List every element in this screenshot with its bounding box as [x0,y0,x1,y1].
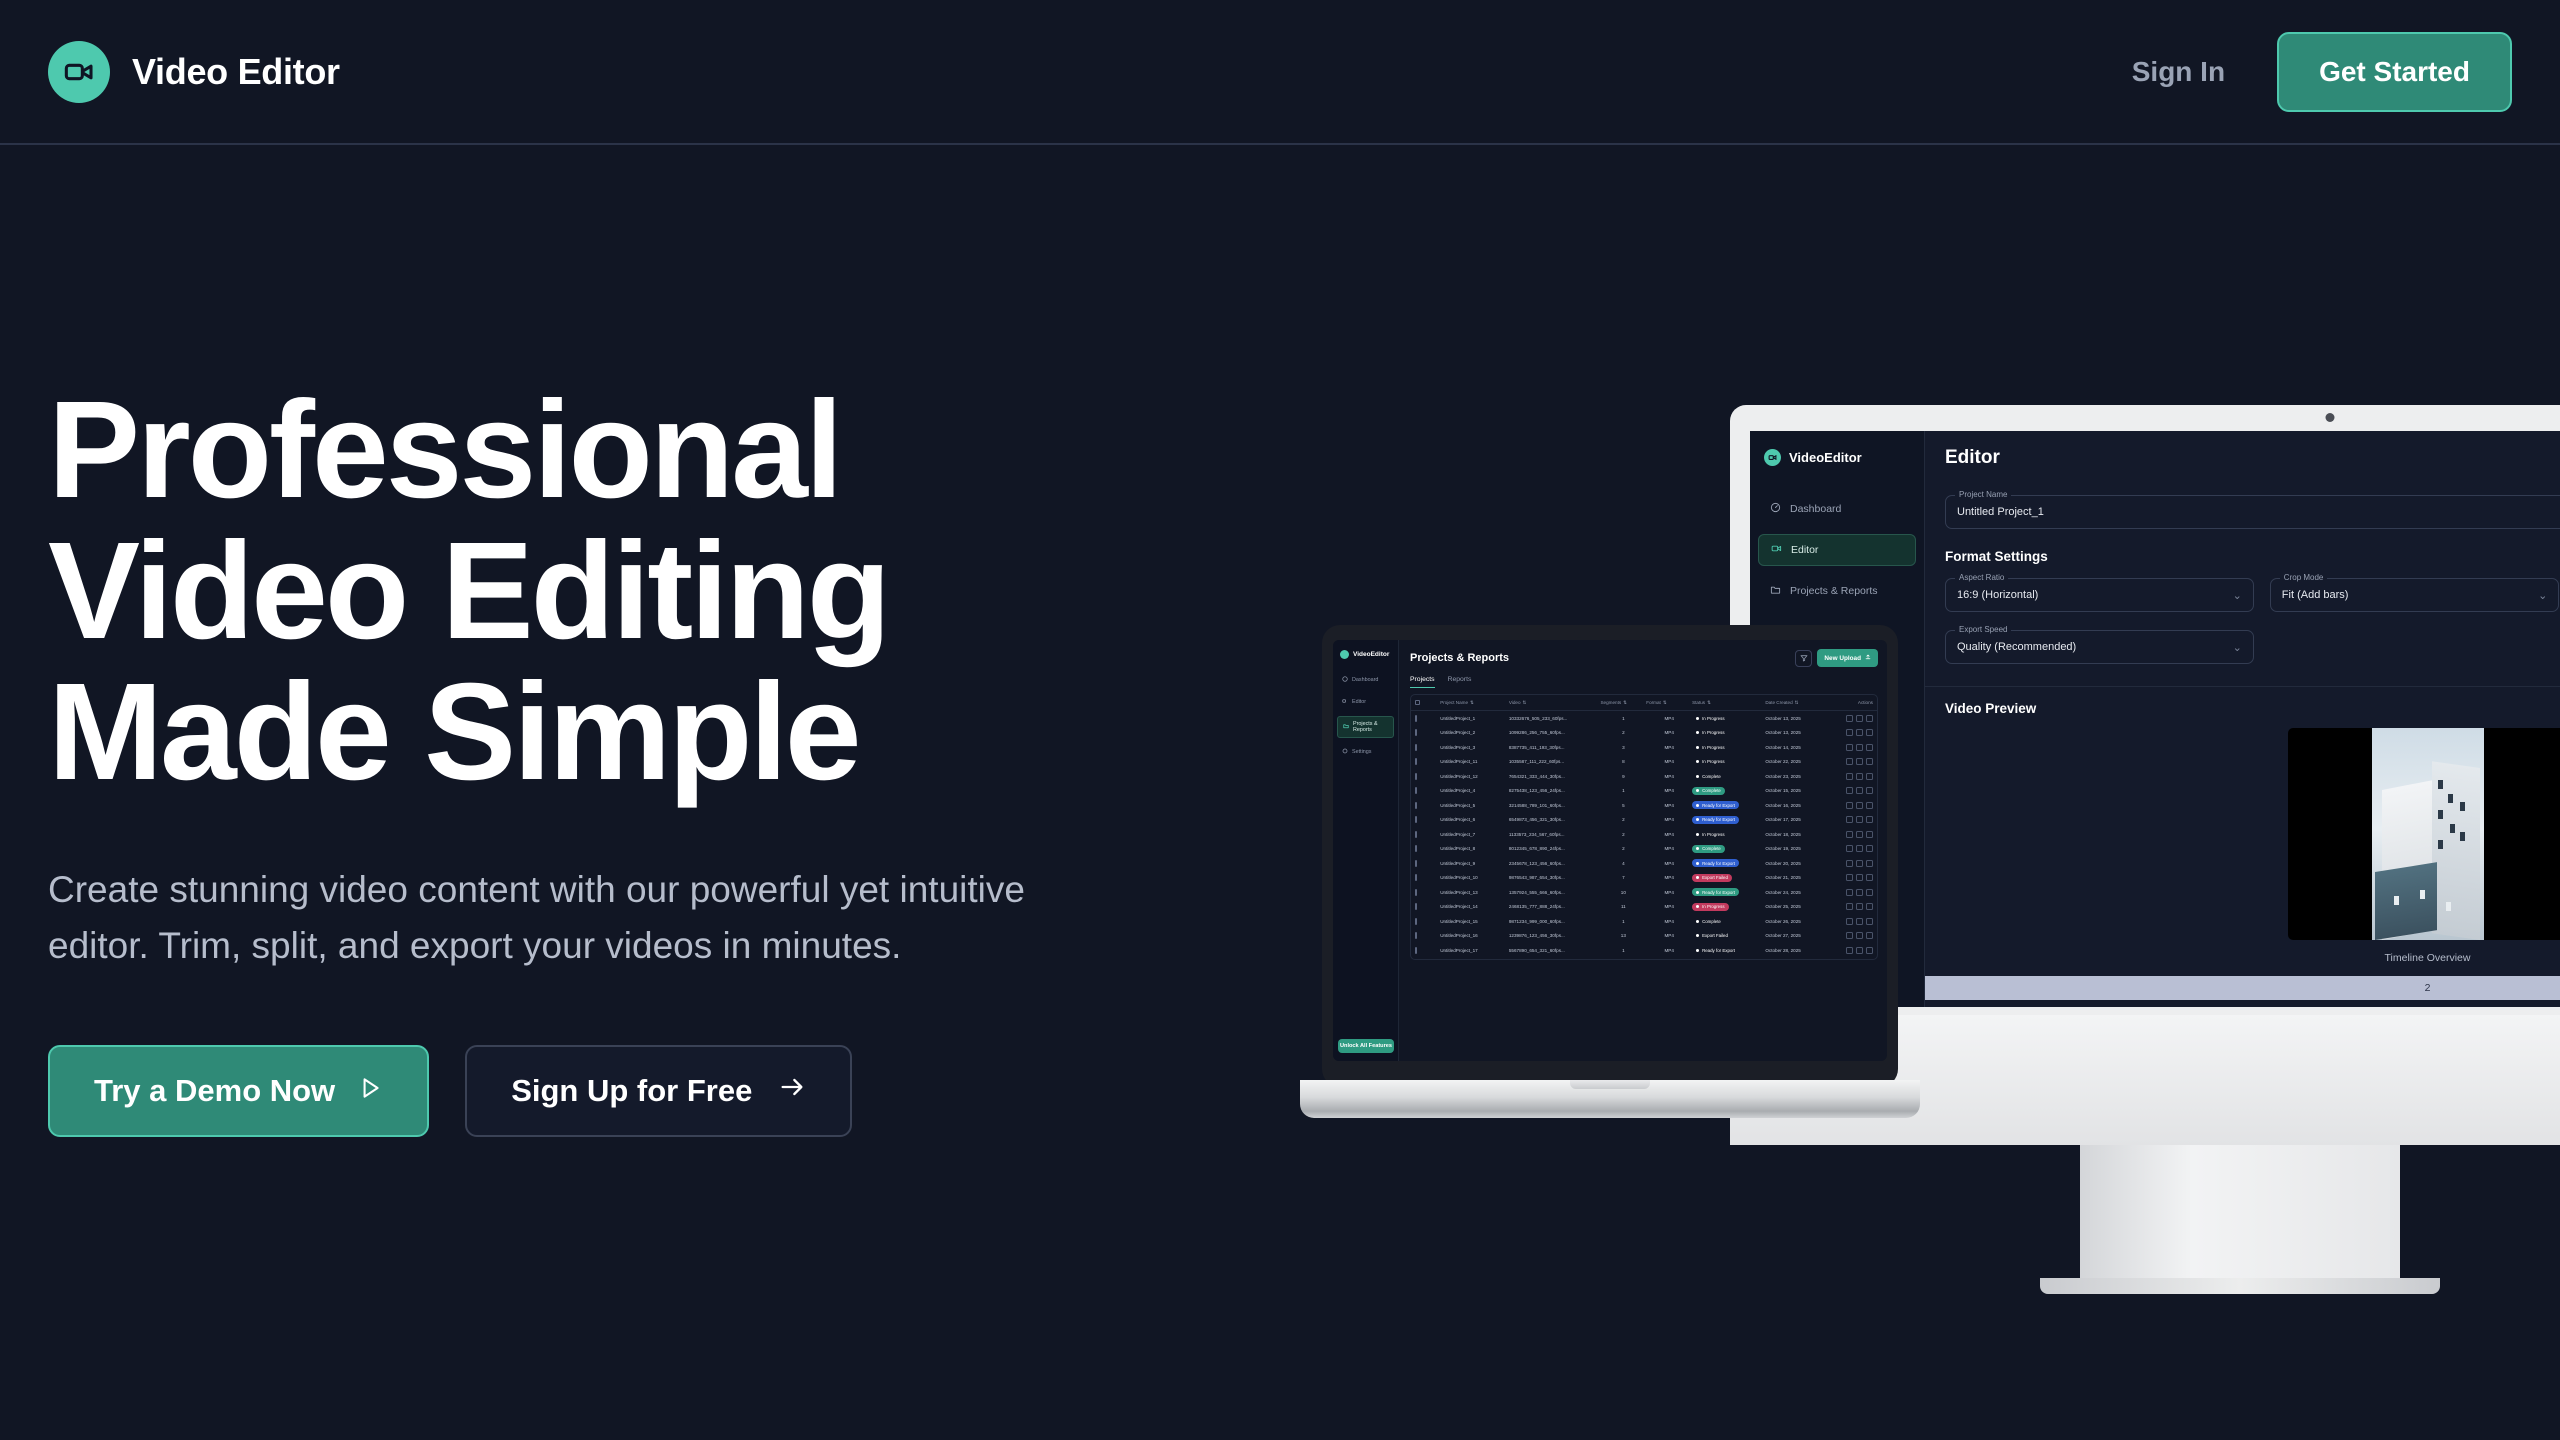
cell-video: 8275438_123_456_24fps... [1509,788,1601,793]
delete-icon[interactable] [1866,773,1873,780]
row-checkbox[interactable] [1415,788,1440,793]
table-row[interactable]: UntitledProject_111035587_111_222_60fps.… [1411,755,1877,770]
export-icon[interactable] [1856,715,1863,722]
row-checkbox[interactable] [1415,774,1440,779]
delete-icon[interactable] [1866,889,1873,896]
cell-video: 1239876_123_456_30fps... [1509,933,1601,938]
monitor-foot [2040,1278,2440,1294]
sort-icon: ⇅ [1663,700,1667,706]
try-demo-button[interactable]: Try a Demo Now [48,1045,429,1137]
project-name-value: Untitled Project_1 [1957,506,2044,518]
export-speed-legend: Export Speed [1955,625,2011,634]
video-camera-icon [48,41,110,103]
monitor-topbar: Editor Save Exp [1925,447,2560,479]
laptop-tabs: Projects Reports [1410,676,1878,688]
sidebar-item-editor[interactable]: Editor [1758,534,1916,566]
cell-segments: 3 [1600,745,1646,750]
edit-icon[interactable] [1846,947,1853,954]
export-icon[interactable] [1856,758,1863,765]
row-actions[interactable] [1832,918,1873,925]
table-row[interactable]: UntitledProject_159871234_999_000_60fps.… [1411,914,1877,929]
status-badge: Ready for Export [1692,816,1739,824]
status-badge: Complete [1692,787,1725,795]
table-row[interactable]: UntitledProject_21099286_256_755_60fps..… [1411,726,1877,741]
cell-format: MP4 [1646,948,1692,953]
cell-format: MP4 [1646,759,1692,764]
monitor-brand[interactable]: VideoEditor [1750,449,1924,466]
laptop-lid: VideoEditor Dashboard Editor [1322,625,1898,1087]
cell-segments: 1 [1600,716,1646,721]
cell-format: MP4 [1646,890,1692,895]
cell-video: 2468135_777_888_24fps... [1509,904,1601,909]
cell-status: Ready for Export [1692,801,1765,809]
row-checkbox[interactable] [1415,759,1440,764]
sidebar-label: Dashboard [1352,677,1378,683]
edit-icon[interactable] [1846,715,1853,722]
laptop-brand[interactable]: VideoEditor [1333,650,1398,659]
cell-format: MP4 [1646,774,1692,779]
cell-status: In Progress [1692,830,1765,838]
laptop-main: Projects & Reports New Upload [1399,640,1887,1061]
arrow-right-icon [778,1073,806,1109]
table-row[interactable]: UntitledProject_110332676_505_233_60fps.… [1411,711,1877,726]
cell-project-name: UntitledProject_5 [1440,803,1509,808]
export-icon[interactable] [1856,787,1863,794]
export-icon[interactable] [1856,773,1863,780]
status-badge: In Progress [1692,758,1728,766]
cell-segments: 5 [1600,803,1646,808]
export-icon[interactable] [1856,918,1863,925]
cell-status: Ready for Export [1692,859,1765,867]
cell-video: 5567890_654_321_60fps... [1509,948,1601,953]
cell-status: In Progress [1692,714,1765,722]
column-header-segments[interactable]: Segments⇅ [1600,700,1646,706]
cell-format: MP4 [1646,745,1692,750]
hero-section: Professional Video Editing Made Simple C… [48,380,1168,1137]
cell-date-created: October 15, 2025 [1765,788,1831,793]
export-icon[interactable] [1856,816,1863,823]
laptop-trackpad-notch [1570,1080,1650,1089]
table-row[interactable]: UntitledProject_142468135_777_888_24fps.… [1411,900,1877,915]
aspect-ratio-legend: Aspect Ratio [1955,573,2008,582]
cell-project-name: UntitledProject_15 [1440,919,1509,924]
timeline-bar[interactable]: 2 [1925,976,2560,1000]
cell-format: MP4 [1646,861,1692,866]
folder-icon [1770,584,1781,598]
cell-format: MP4 [1646,817,1692,822]
get-started-button[interactable]: Get Started [2277,32,2512,112]
table-body: UntitledProject_110332676_505_233_60fps.… [1411,711,1877,959]
cell-segments: 2 [1600,846,1646,851]
cell-format: MP4 [1646,803,1692,808]
row-actions[interactable] [1832,845,1873,852]
delete-icon[interactable] [1866,932,1873,939]
project-name-field[interactable]: Project Name Untitled Project_1 [1945,495,2560,529]
format-settings-heading: Format Settings [1945,549,2560,564]
row-checkbox[interactable] [1415,846,1440,851]
site-header: Video Editor Sign In Get Started [0,0,2560,145]
cell-format: MP4 [1646,788,1692,793]
delete-icon[interactable] [1866,874,1873,881]
select-all-checkbox[interactable] [1415,700,1440,705]
status-badge: Export Failed [1692,932,1732,940]
edit-icon[interactable] [1846,758,1853,765]
cell-date-created: October 28, 2025 [1765,948,1831,953]
sidebar-label: Settings [1352,749,1371,755]
cell-project-name: UntitledProject_13 [1440,890,1509,895]
page-title: Professional Video Editing Made Simple [48,380,1168,802]
gauge-icon [1342,676,1348,684]
edit-icon[interactable] [1846,744,1853,751]
row-actions[interactable] [1832,744,1873,751]
video-preview-area: Timeline Overview 2 [1925,728,2560,1000]
cell-date-created: October 17, 2025 [1765,817,1831,822]
table-row[interactable]: UntitledProject_53214588_789_101_60fps..… [1411,798,1877,813]
cell-date-created: October 13, 2025 [1765,716,1831,721]
cell-status: In Progress [1692,729,1765,737]
cell-date-created: October 23, 2025 [1765,774,1831,779]
new-upload-button[interactable]: New Upload [1817,649,1878,667]
status-badge: Complete [1692,845,1725,853]
export-icon[interactable] [1856,874,1863,881]
aspect-ratio-select[interactable]: Aspect Ratio 16:9 (Horizontal) ⌄ [1945,578,2254,612]
sidebar-item-settings[interactable]: Settings [1337,744,1394,760]
status-badge: In Progress [1692,714,1728,722]
edit-icon[interactable] [1846,889,1853,896]
monitor-stand [2080,1145,2400,1285]
cell-video: 7654321_333_444_30fps... [1509,774,1601,779]
export-icon[interactable] [1856,947,1863,954]
column-header-format[interactable]: Format⇅ [1646,700,1692,706]
cell-project-name: UntitledProject_14 [1440,904,1509,909]
cell-project-name: UntitledProject_1 [1440,716,1509,721]
gear-icon [1342,748,1348,756]
row-actions[interactable] [1832,831,1873,838]
delete-icon[interactable] [1866,845,1873,852]
laptop-screen: VideoEditor Dashboard Editor [1333,640,1887,1061]
cell-date-created: October 18, 2025 [1765,832,1831,837]
cell-date-created: October 14, 2025 [1765,745,1831,750]
crop-mode-value: Fit (Add bars) [2282,589,2349,601]
tab-projects[interactable]: Projects [1410,676,1435,688]
edit-icon[interactable] [1846,932,1853,939]
cell-video: 3214588_789_101_60fps... [1509,803,1601,808]
brand-name: Video Editor [132,51,340,93]
video-preview-frame[interactable] [2288,728,2560,940]
status-badge: Complete [1692,917,1725,925]
hero-subtitle: Create stunning video content with our p… [48,862,1138,973]
timeline-value: 2 [2425,982,2431,994]
status-badge: In Progress [1692,743,1728,751]
cell-date-created: October 25, 2025 [1765,904,1831,909]
cell-project-name: UntitledProject_12 [1440,774,1509,779]
status-badge: Ready for Export [1692,859,1739,867]
cell-segments: 2 [1600,817,1646,822]
sidebar-item-projects-reports[interactable]: Projects & Reports [1337,716,1394,738]
sort-icon: ⇅ [1470,700,1474,706]
sidebar-label: Projects & Reports [1353,721,1388,733]
delete-icon[interactable] [1866,903,1873,910]
cell-project-name: UntitledProject_9 [1440,861,1509,866]
sort-icon: ⇅ [1623,700,1627,706]
row-actions[interactable] [1832,773,1873,780]
cell-status: Export Failed [1692,932,1765,940]
cell-project-name: UntitledProject_11 [1440,759,1509,764]
cell-segments: 1 [1600,948,1646,953]
upload-icon [1865,654,1871,662]
table-row[interactable]: UntitledProject_92345678_123_456_60fps..… [1411,856,1877,871]
status-badge: In Progress [1692,729,1728,737]
edit-icon[interactable] [1846,874,1853,881]
table-row[interactable]: UntitledProject_48275438_123_456_24fps..… [1411,784,1877,799]
video-camera-icon [1764,449,1781,466]
table-header-row: Project Name⇅ Video⇅ Segments⇅ Format⇅ S… [1411,695,1877,711]
edit-icon[interactable] [1846,831,1853,838]
row-checkbox[interactable] [1415,803,1440,808]
cell-date-created: October 22, 2025 [1765,759,1831,764]
row-actions[interactable] [1832,874,1873,881]
cell-date-created: October 21, 2025 [1765,875,1831,880]
folder-icon [1343,723,1349,731]
status-badge: Ready for Export [1692,888,1739,896]
row-checkbox[interactable] [1415,890,1440,895]
timeline-overview-label: Timeline Overview [2385,952,2471,964]
cell-status: Complete [1692,787,1765,795]
row-actions[interactable] [1832,787,1873,794]
table-row[interactable]: UntitledProject_66549873_456_321_30fps..… [1411,813,1877,828]
try-demo-label: Try a Demo Now [94,1073,335,1109]
delete-icon[interactable] [1866,715,1873,722]
cell-video: 6549873_456_321_30fps... [1509,817,1601,822]
table-row[interactable]: UntitledProject_175567890_654_321_60fps.… [1411,943,1877,958]
delete-icon[interactable] [1866,787,1873,794]
cell-video: 1035587_111_222_60fps... [1509,759,1601,764]
video-camera-icon [1771,543,1782,557]
sidebar-item-projects-reports[interactable]: Projects & Reports [1758,576,1916,606]
laptop-page-title: Projects & Reports [1410,652,1509,664]
cell-date-created: October 27, 2025 [1765,933,1831,938]
cell-segments: 2 [1600,730,1646,735]
table-row[interactable]: UntitledProject_161239876_123_456_30fps.… [1411,929,1877,944]
sort-icon: ⇅ [1795,700,1799,706]
row-actions[interactable] [1832,860,1873,867]
status-badge: Ready for Export [1692,801,1739,809]
row-actions[interactable] [1832,729,1873,736]
sign-in-button[interactable]: Sign In [2132,56,2225,88]
column-header-actions: Actions [1832,700,1873,705]
sidebar-label: Editor [1791,544,1818,556]
cell-project-name: UntitledProject_6 [1440,817,1509,822]
filter-icon[interactable] [1795,650,1812,667]
table-row[interactable]: UntitledProject_131357924_555_666_60fps.… [1411,885,1877,900]
row-checkbox[interactable] [1415,817,1440,822]
laptop-header-actions: New Upload [1795,649,1878,667]
cell-video: 9871234_999_000_60fps... [1509,919,1601,924]
delete-icon[interactable] [1866,831,1873,838]
export-icon[interactable] [1856,903,1863,910]
laptop-brand-label: VideoEditor [1353,651,1389,658]
cell-format: MP4 [1646,904,1692,909]
export-icon[interactable] [1856,744,1863,751]
delete-icon[interactable] [1866,744,1873,751]
table-row[interactable]: UntitledProject_127654321_333_444_30fps.… [1411,769,1877,784]
cell-status: In Progress [1692,903,1765,911]
sidebar-item-editor[interactable]: Editor [1337,694,1394,710]
cell-status: Complete [1692,772,1765,780]
cell-date-created: October 24, 2025 [1765,890,1831,895]
row-checkbox[interactable] [1415,745,1440,750]
edit-icon[interactable] [1846,860,1853,867]
row-checkbox[interactable] [1415,948,1440,953]
column-header-date-created[interactable]: Date Created⇅ [1765,700,1831,706]
cell-date-created: October 16, 2025 [1765,803,1831,808]
table-row[interactable]: UntitledProject_38387735_411_193_30fps..… [1411,740,1877,755]
brand-logo[interactable]: Video Editor [48,41,340,103]
edit-icon[interactable] [1846,918,1853,925]
row-actions[interactable] [1832,932,1873,939]
status-badge: In Progress [1692,830,1728,838]
cell-project-name: UntitledProject_2 [1440,730,1509,735]
delete-icon[interactable] [1866,816,1873,823]
cell-video: 10332676_505_233_60fps... [1509,716,1601,721]
row-actions[interactable] [1832,802,1873,809]
export-icon[interactable] [1856,729,1863,736]
cell-video: 2345678_123_456_60fps... [1509,861,1601,866]
sidebar-label: Dashboard [1790,503,1841,515]
delete-icon[interactable] [1866,918,1873,925]
sidebar-label: Projects & Reports [1790,585,1878,597]
row-actions[interactable] [1832,715,1873,722]
cell-video: 9876543_987_654_30fps... [1509,875,1601,880]
column-header-project-name[interactable]: Project Name⇅ [1440,700,1509,706]
cell-segments: 1 [1600,919,1646,924]
monitor-camera-icon [2326,413,2335,422]
row-checkbox[interactable] [1415,875,1440,880]
chevron-down-icon: ⌄ [2538,589,2547,602]
cell-video: 8012345_678_890_24fps... [1509,846,1601,851]
export-icon[interactable] [1856,802,1863,809]
laptop-header: Projects & Reports New Upload [1410,649,1878,667]
unlock-all-features-button[interactable]: Unlock All Features [1338,1039,1394,1053]
cell-video: 1099286_256_755_60fps... [1509,730,1601,735]
monitor-main: Editor Save Exp [1925,431,2560,1007]
sidebar-item-dashboard[interactable]: Dashboard [1758,494,1916,524]
row-checkbox[interactable] [1415,919,1440,924]
edit-icon[interactable] [1846,845,1853,852]
row-actions[interactable] [1832,758,1873,765]
cell-format: MP4 [1646,875,1692,880]
chevron-down-icon: ⌄ [2233,641,2242,654]
status-badge: In Progress [1692,903,1728,911]
cell-segments: 8 [1600,759,1646,764]
edit-icon[interactable] [1846,773,1853,780]
header-actions: Sign In Get Started [2132,32,2512,112]
row-checkbox[interactable] [1415,716,1440,721]
delete-icon[interactable] [1866,947,1873,954]
cell-status: Complete [1692,845,1765,853]
cell-project-name: UntitledProject_17 [1440,948,1509,953]
cell-status: In Progress [1692,758,1765,766]
column-header-status[interactable]: Status⇅ [1692,700,1765,706]
aspect-ratio-value: 16:9 (Horizontal) [1957,589,2038,601]
row-checkbox[interactable] [1415,904,1440,909]
delete-icon[interactable] [1866,802,1873,809]
cell-project-name: UntitledProject_8 [1440,846,1509,851]
cell-segments: 1 [1600,788,1646,793]
cell-segments: 10 [1600,890,1646,895]
sign-up-free-label: Sign Up for Free [511,1073,752,1109]
project-name-legend: Project Name [1955,490,2011,499]
crop-mode-select[interactable]: Crop Mode Fit (Add bars) ⌄ [2270,578,2560,612]
sign-up-free-button[interactable]: Sign Up for Free [465,1045,852,1137]
row-actions[interactable] [1832,816,1873,823]
delete-icon[interactable] [1866,729,1873,736]
export-icon[interactable] [1856,860,1863,867]
row-actions[interactable] [1832,903,1873,910]
cell-video: 1133573_234_567_60fps... [1509,832,1601,837]
video-camera-icon [1340,650,1349,659]
edit-icon[interactable] [1846,816,1853,823]
device-mockup-stage: VideoEditor Dashboard [1300,340,2560,1340]
video-camera-icon [1342,698,1348,706]
table-row[interactable]: UntitledProject_109876543_987_654_30fps.… [1411,871,1877,886]
export-icon[interactable] [1856,831,1863,838]
table-row[interactable]: UntitledProject_88012345_678_890_24fps..… [1411,842,1877,857]
cell-segments: 11 [1600,904,1646,909]
cell-video: 1357924_555_666_60fps... [1509,890,1601,895]
edit-icon[interactable] [1846,787,1853,794]
cell-video: 8387735_411_193_30fps... [1509,745,1601,750]
row-checkbox[interactable] [1415,933,1440,938]
sidebar-item-dashboard[interactable]: Dashboard [1337,672,1394,688]
edit-icon[interactable] [1846,729,1853,736]
sidebar-label: Editor [1352,699,1366,705]
delete-icon[interactable] [1866,758,1873,765]
cell-format: MP4 [1646,919,1692,924]
row-checkbox[interactable] [1415,730,1440,735]
chevron-down-icon: ⌄ [2233,589,2242,602]
row-actions[interactable] [1832,889,1873,896]
export-speed-select[interactable]: Export Speed Quality (Recommended) ⌄ [1945,630,2254,664]
sort-icon: ⇅ [1707,700,1711,706]
laptop-notch [1574,625,1646,638]
tab-reports[interactable]: Reports [1448,676,1472,688]
export-icon[interactable] [1856,889,1863,896]
cell-format: MP4 [1646,832,1692,837]
column-header-video[interactable]: Video⇅ [1509,700,1601,706]
table-row[interactable]: UntitledProject_71133573_234_567_60fps..… [1411,827,1877,842]
cell-project-name: UntitledProject_4 [1440,788,1509,793]
edit-icon[interactable] [1846,903,1853,910]
cell-status: Ready for Export [1692,888,1765,896]
cell-segments: 9 [1600,774,1646,779]
cell-date-created: October 20, 2025 [1765,861,1831,866]
export-speed-value: Quality (Recommended) [1957,641,2076,653]
new-upload-label: New Upload [1824,655,1861,662]
cell-date-created: October 19, 2025 [1765,846,1831,851]
cell-status: Ready for Export [1692,816,1765,824]
row-checkbox[interactable] [1415,832,1440,837]
delete-icon[interactable] [1866,860,1873,867]
export-icon[interactable] [1856,845,1863,852]
edit-icon[interactable] [1846,802,1853,809]
preview-thumbnail [2372,728,2484,940]
export-icon[interactable] [1856,932,1863,939]
row-checkbox[interactable] [1415,861,1440,866]
projects-table: Project Name⇅ Video⇅ Segments⇅ Format⇅ S… [1410,694,1878,960]
row-actions[interactable] [1832,947,1873,954]
cell-project-name: UntitledProject_7 [1440,832,1509,837]
